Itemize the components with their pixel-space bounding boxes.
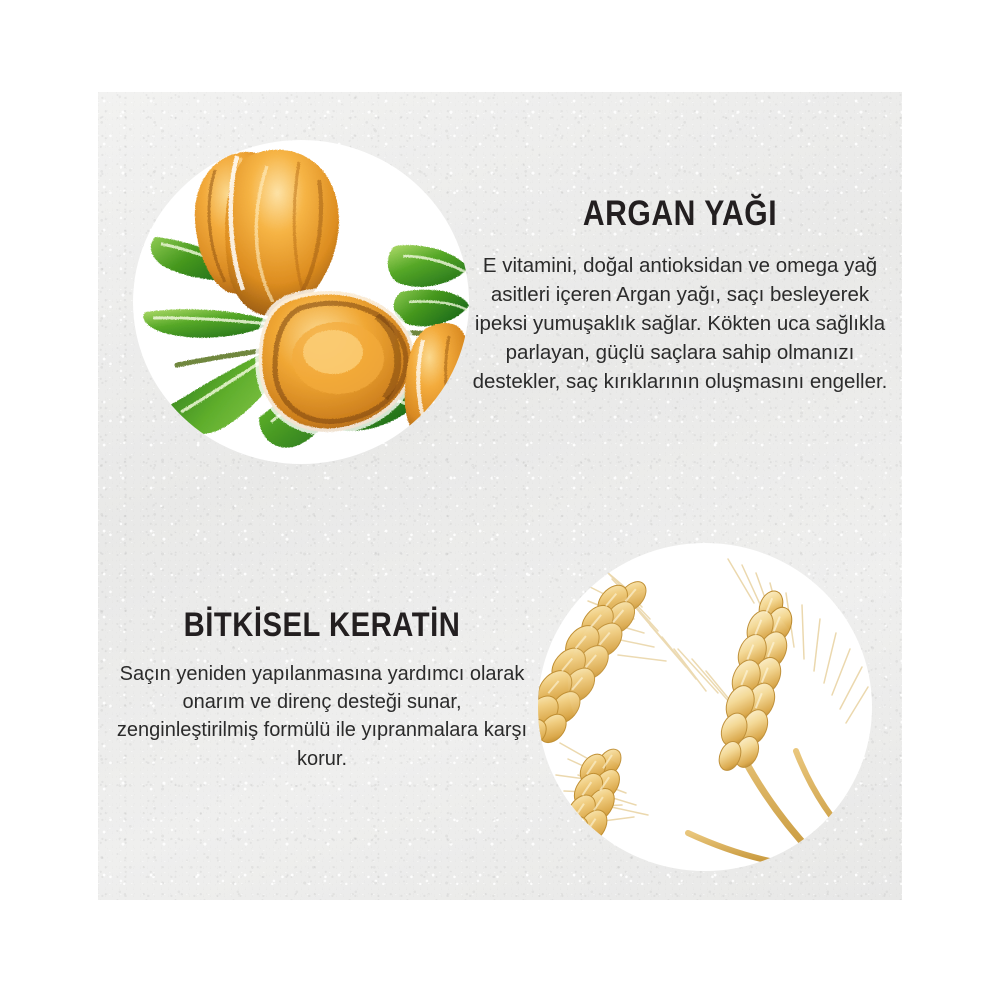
argan-branch-illustration bbox=[133, 140, 469, 464]
argan-image-circle bbox=[133, 140, 469, 464]
wheat-ears-illustration bbox=[538, 543, 872, 871]
argan-description: E vitamini, doğal antioksidan ve omega y… bbox=[470, 251, 890, 397]
poster-canvas: ARGAN YAĞI E vitamini, doğal antioksidan… bbox=[0, 0, 1000, 1000]
keratin-feature-text: BİTKİSEL KERATİN Saçın yeniden yapılanma… bbox=[112, 608, 532, 773]
keratin-description: Saçın yeniden yapılanmasına yardımcı ola… bbox=[112, 660, 532, 774]
keratin-title: BİTKİSEL KERATİN bbox=[141, 608, 502, 644]
argan-title: ARGAN YAĞI bbox=[499, 196, 860, 233]
argan-feature-text: ARGAN YAĞI E vitamini, doğal antioksidan… bbox=[470, 196, 890, 396]
wheat-image-circle bbox=[538, 543, 872, 871]
